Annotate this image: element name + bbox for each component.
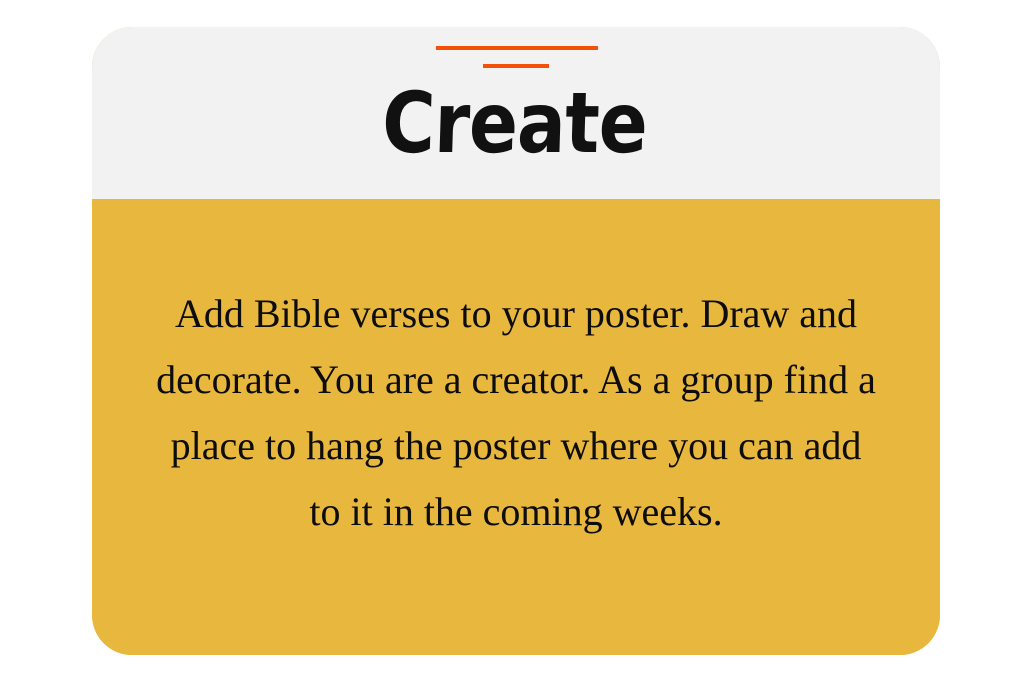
card-header: Create — [92, 27, 940, 199]
activity-card: Create Add Bible verses to your poster. … — [92, 27, 940, 655]
accent-rule-long-icon — [436, 46, 598, 50]
card-title: Create — [149, 77, 881, 169]
card-body: Add Bible verses to your poster. Draw an… — [92, 199, 940, 655]
accent-rule-short-icon — [483, 64, 549, 68]
card-body-text: Add Bible verses to your poster. Draw an… — [153, 281, 879, 545]
title-rule-group — [92, 46, 940, 68]
